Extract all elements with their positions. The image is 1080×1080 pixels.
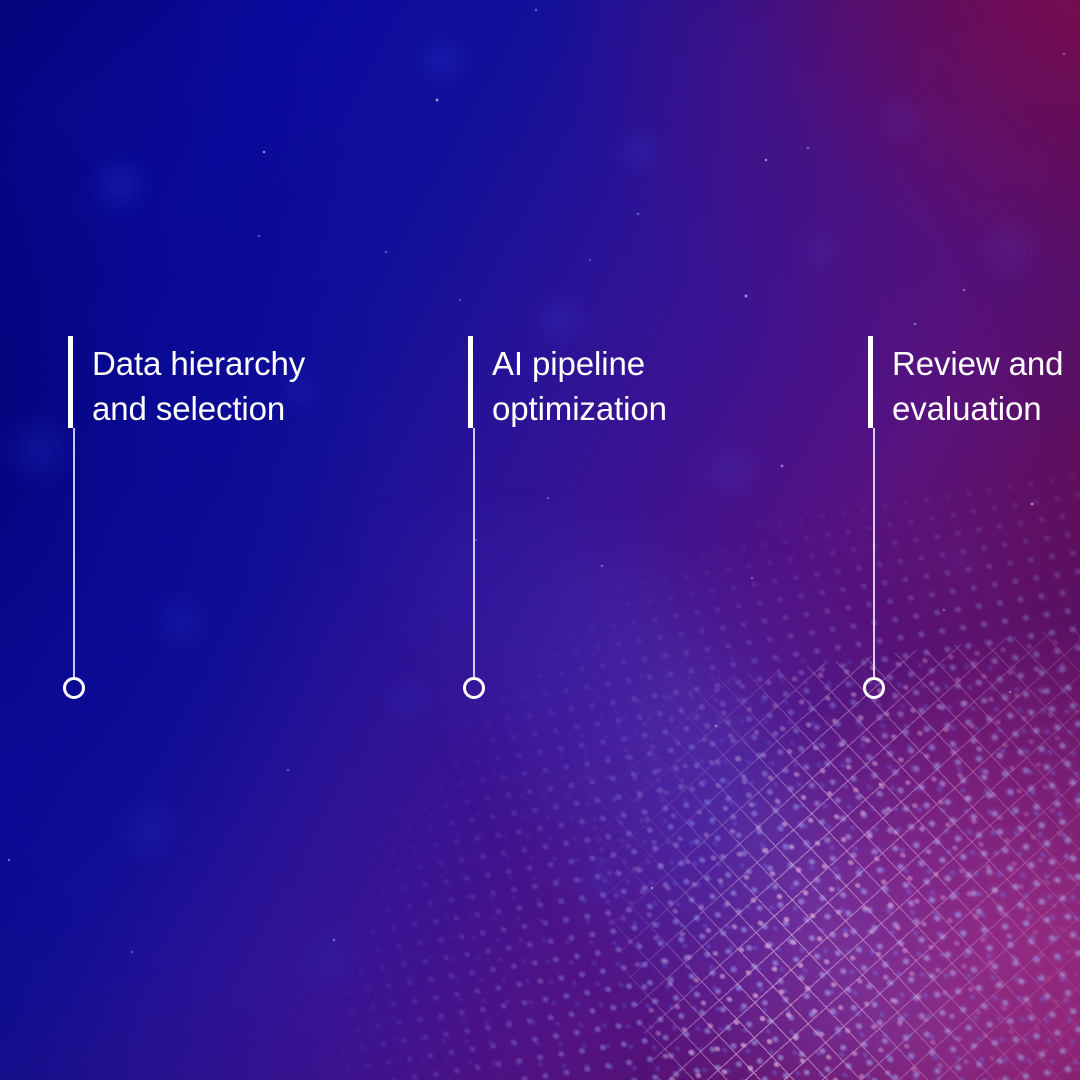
accent-bar-step-2 (468, 336, 473, 428)
poster-canvas: Data hierarchy and selection AI pipeline… (0, 0, 1080, 1080)
timeline-step-3[interactable]: Review and evaluation (0, 0, 420, 1080)
node-circle-step-3[interactable] (863, 677, 885, 699)
step-3-label-line-1: Review and (892, 341, 1063, 386)
step-2-label-line-1: AI pipeline (492, 341, 645, 386)
step-3-label-line-2: evaluation (892, 386, 1041, 431)
step-2-label-line-2: optimization (492, 386, 667, 431)
connector-line-step-2 (473, 428, 475, 677)
node-circle-step-2[interactable] (463, 677, 485, 699)
timeline: Data hierarchy and selection AI pipeline… (0, 0, 1080, 1080)
accent-bar-step-3 (868, 336, 873, 428)
connector-line-step-3 (873, 428, 875, 677)
